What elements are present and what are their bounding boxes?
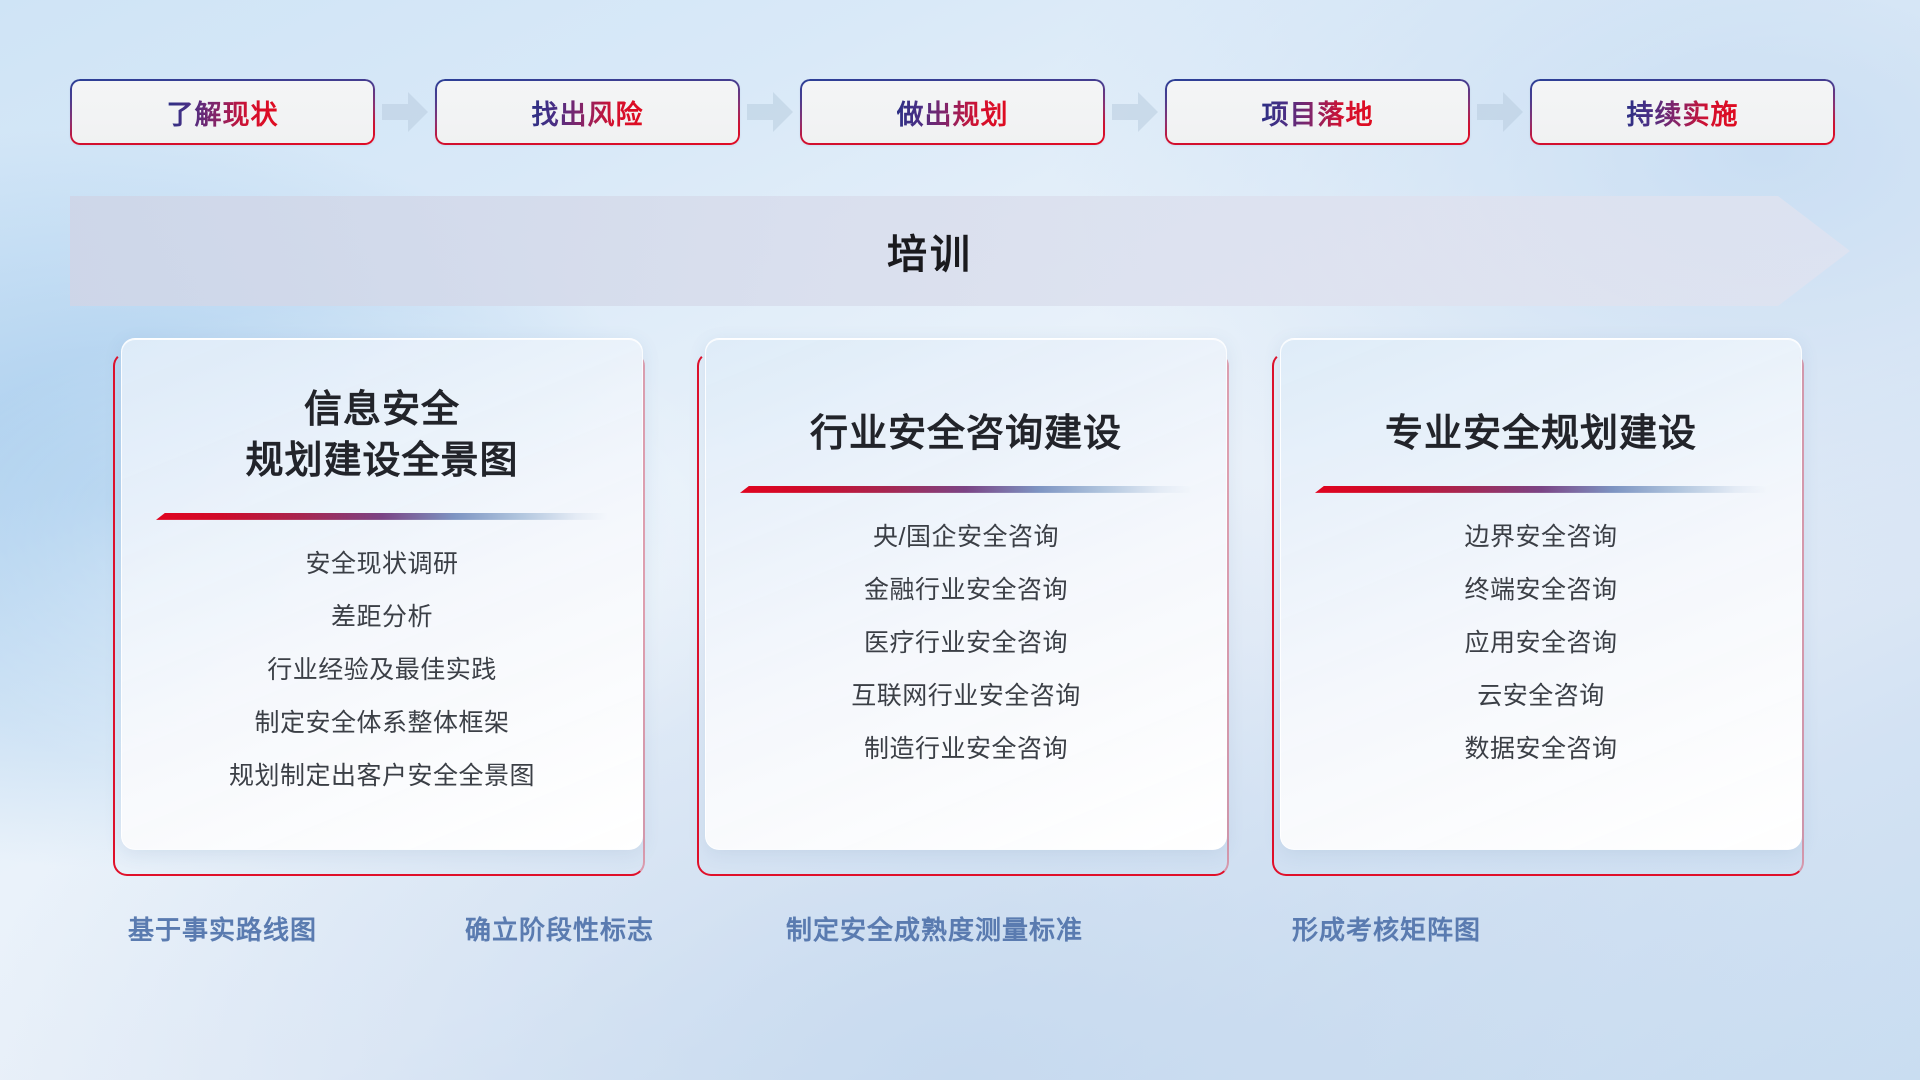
caption-assessment-matrix: 形成考核矩阵图 [1292, 910, 1481, 947]
list-item: 云安全咨询 [1305, 684, 1777, 709]
card-information-security-blueprint[interactable]: 信息安全 规划建设全景图 安全现状调研 差距分析 行业经验及最佳实践 制定安全体… [113, 330, 643, 875]
list-item: 规划制定出客户安全全景图 [146, 764, 618, 789]
card-divider-rule [156, 513, 608, 520]
card-divider-rule [1315, 486, 1767, 493]
list-item: 金融行业安全咨询 [730, 578, 1202, 603]
card-item-list: 边界安全咨询 终端安全咨询 应用安全咨询 云安全咨询 数据安全咨询 [1281, 493, 1801, 762]
process-step-3[interactable]: 做出规划 [800, 79, 1105, 145]
process-step-label: 做出规划 [897, 93, 1009, 132]
card-title: 专业安全规划建设 [1281, 339, 1801, 460]
process-step-row: 了解现状 找出风险 做出规划 项目落地 [70, 76, 1850, 148]
training-banner: 培训 [70, 196, 1850, 306]
list-item: 终端安全咨询 [1305, 578, 1777, 603]
list-item: 应用安全咨询 [1305, 631, 1777, 656]
card-title: 行业安全咨询建设 [706, 339, 1226, 460]
card-professional-security-planning[interactable]: 专业安全规划建设 边界安全咨询 终端安全咨询 应用安全咨询 云安全咨询 数据安全… [1272, 330, 1802, 875]
list-item: 数据安全咨询 [1305, 737, 1777, 762]
card-item-list: 央/国企安全咨询 金融行业安全咨询 医疗行业安全咨询 互联网行业安全咨询 制造行… [706, 493, 1226, 762]
caption-milestones: 确立阶段性标志 [465, 910, 654, 947]
caption-maturity-standard: 制定安全成熟度测量标准 [786, 910, 1083, 947]
list-item: 制造行业安全咨询 [730, 737, 1202, 762]
list-item: 制定安全体系整体框架 [146, 711, 618, 736]
process-step-2[interactable]: 找出风险 [435, 79, 740, 145]
slide-canvas: 了解现状 找出风险 做出规划 项目落地 [0, 0, 1920, 1080]
banner-title: 培训 [70, 196, 1850, 306]
process-step-label: 找出风险 [532, 93, 644, 132]
card-group: 信息安全 规划建设全景图 安全现状调研 差距分析 行业经验及最佳实践 制定安全体… [0, 330, 1920, 890]
card-industry-security-consulting[interactable]: 行业安全咨询建设 央/国企安全咨询 金融行业安全咨询 医疗行业安全咨询 互联网行… [697, 330, 1227, 875]
list-item: 医疗行业安全咨询 [730, 631, 1202, 656]
arrow-right-icon [1470, 89, 1530, 135]
list-item: 行业经验及最佳实践 [146, 658, 618, 683]
list-item: 互联网行业安全咨询 [730, 684, 1202, 709]
process-step-label: 项目落地 [1262, 93, 1374, 132]
process-step-4[interactable]: 项目落地 [1165, 79, 1470, 145]
list-item: 央/国企安全咨询 [730, 525, 1202, 550]
list-item: 安全现状调研 [146, 552, 618, 577]
process-step-label: 了解现状 [167, 93, 279, 132]
list-item: 差距分析 [146, 605, 618, 630]
process-step-5[interactable]: 持续实施 [1530, 79, 1835, 145]
card-title: 信息安全 规划建设全景图 [122, 339, 642, 487]
list-item: 边界安全咨询 [1305, 525, 1777, 550]
card-divider-rule [740, 486, 1192, 493]
process-step-label: 持续实施 [1627, 93, 1739, 132]
process-step-1[interactable]: 了解现状 [70, 79, 375, 145]
caption-roadmap: 基于事实路线图 [128, 910, 317, 947]
arrow-right-icon [1105, 89, 1165, 135]
arrow-right-icon [375, 89, 435, 135]
card-item-list: 安全现状调研 差距分析 行业经验及最佳实践 制定安全体系整体框架 规划制定出客户… [122, 520, 642, 789]
arrow-right-icon [740, 89, 800, 135]
caption-row: 基于事实路线图 确立阶段性标志 制定安全成熟度测量标准 形成考核矩阵图 [0, 910, 1920, 958]
